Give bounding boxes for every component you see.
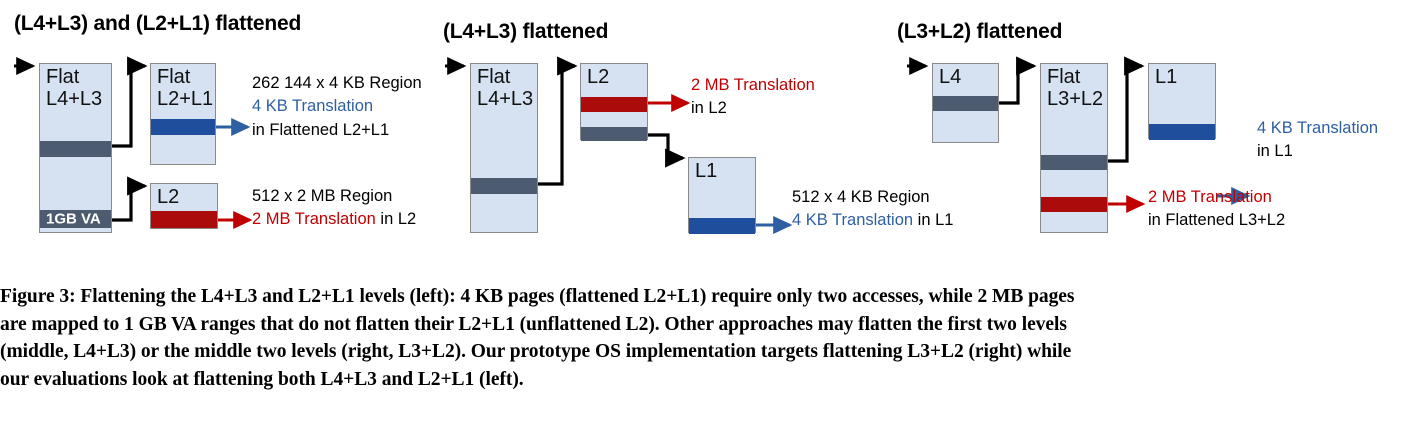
note-right-4kb-line1: 4 KB Translation: [1257, 117, 1378, 140]
figure-diagram: (L4+L3) and (L2+L1) flattened Flat L4+L3…: [0, 0, 1420, 275]
caption-line-2: are mapped to 1 GB VA ranges that do not…: [0, 311, 1420, 339]
band-blue-right-4kb-entry: [1149, 124, 1215, 140]
box-right-flat-l3-l2-label: Flat L3+L2: [1047, 66, 1103, 111]
box-right-l4-label: L4: [939, 66, 961, 88]
band-red-right-2mb-entry: [1041, 197, 1107, 212]
note-right-4kb-line2: in L1: [1257, 140, 1378, 163]
box-right-flat-l3-l2: Flat L3+L2: [1040, 63, 1108, 233]
box-right-l1-label: L1: [1155, 66, 1177, 88]
band-gray-right-l1-ptr: [1041, 155, 1107, 170]
note-right-2mb: 2 MB Translation in Flattened L3+L2: [1148, 186, 1285, 233]
figure-caption: Figure 3: Flattening the L4+L3 and L2+L1…: [0, 283, 1420, 394]
box-right-l1: L1: [1148, 63, 1216, 139]
note-right-4kb: 4 KB Translation in L1: [1257, 117, 1378, 164]
box-right-l4: L4: [932, 63, 999, 143]
band-gray-right-l4-entry: [933, 96, 998, 111]
note-right-2mb-line2: in Flattened L3+L2: [1148, 209, 1285, 232]
caption-line-4: our evaluations look at flattening both …: [0, 366, 1420, 394]
caption-line-1: Figure 3: Flattening the L4+L3 and L2+L1…: [0, 283, 1420, 311]
panel-right: (L3+L2) flattened L4 Flat L3+L2 L1 4 KB …: [0, 0, 1420, 275]
caption-line-3: (middle, L4+L3) or the middle two levels…: [0, 338, 1420, 366]
note-right-2mb-line1: 2 MB Translation: [1148, 186, 1285, 209]
panel-right-title: (L3+L2) flattened: [897, 20, 1062, 44]
